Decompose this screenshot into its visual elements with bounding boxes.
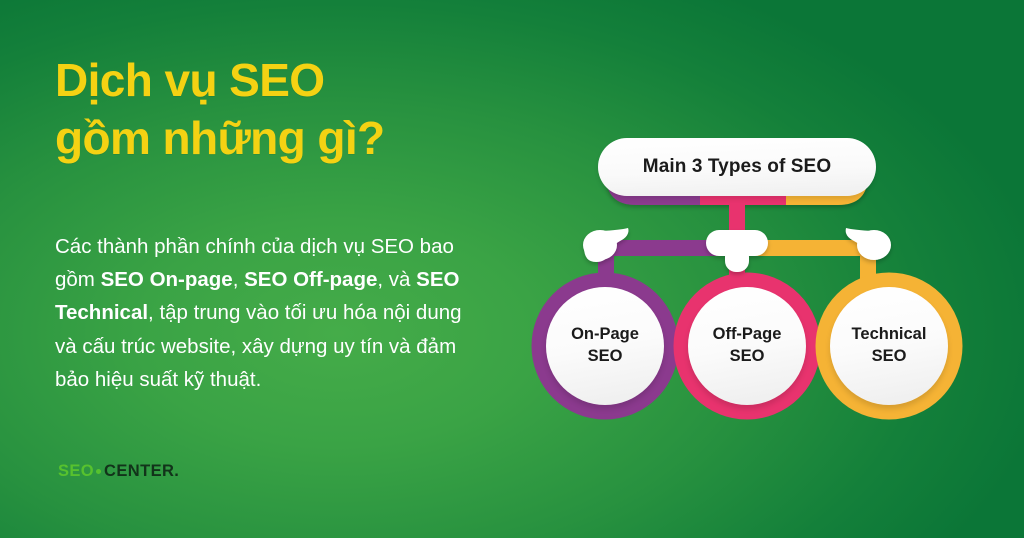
diagram-node-technical[interactable]: Technical SEO	[830, 287, 948, 405]
infographic-canvas: Dịch vụ SEO gồm những gì? Các thành phần…	[0, 0, 1024, 538]
node-technical-line2: SEO	[872, 346, 907, 368]
diagram-node-on-page[interactable]: On-Page SEO	[546, 287, 664, 405]
diagram-root-label: Main 3 Types of SEO	[643, 156, 831, 178]
node-on-page-line2: SEO	[588, 346, 623, 368]
diagram-node-off-page[interactable]: Off-Page SEO	[688, 287, 806, 405]
diagram-root-node[interactable]: Main 3 Types of SEO	[598, 138, 876, 196]
node-on-page-line1: On-Page	[571, 324, 639, 346]
junction-cap-center	[706, 230, 768, 272]
node-off-page-line2: SEO	[730, 346, 765, 368]
node-off-page-line1: Off-Page	[713, 324, 782, 346]
diagram-connectors	[0, 0, 1024, 538]
node-technical-line1: Technical	[852, 324, 927, 346]
